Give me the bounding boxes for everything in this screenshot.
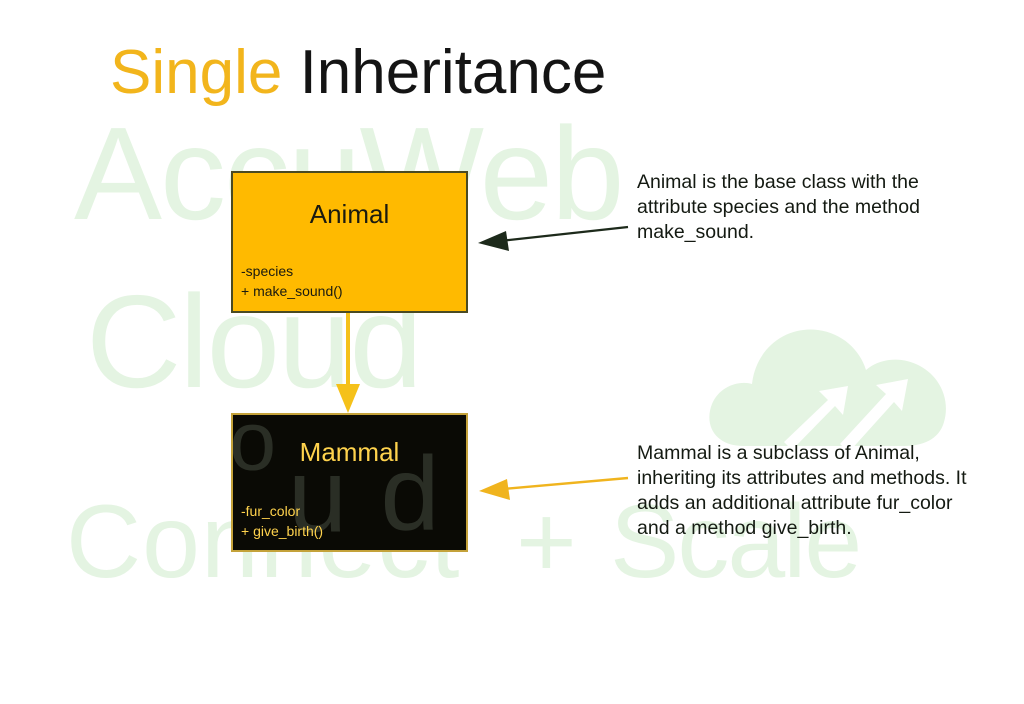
- annotation-mammal: Mammal is a subclass of Animal, inheriti…: [637, 441, 971, 541]
- class-members-animal: -species + make_sound(): [241, 261, 343, 301]
- class-name-animal: Animal: [233, 199, 466, 229]
- uml-class-box-animal[interactable]: Animal -species + make_sound(): [231, 171, 468, 313]
- inheritance-arrow: [336, 313, 360, 413]
- page-title-rest: Inheritance: [282, 38, 606, 107]
- slide-canvas: AccuWeb Cloud Connect + Scale Single Inh…: [0, 0, 1024, 704]
- page-title: Single Inheritance: [110, 36, 606, 110]
- class-method-give-birth: + give_birth(): [241, 521, 323, 541]
- mammal-note-arrow: [479, 478, 628, 500]
- class-attribute-fur-color: -fur_color: [241, 501, 323, 521]
- annotation-animal: Animal is the base class with the attrib…: [637, 170, 967, 245]
- class-name-mammal: Mammal: [233, 437, 466, 467]
- page-title-highlight: Single: [110, 38, 282, 107]
- class-method-make-sound: + make_sound(): [241, 281, 343, 301]
- class-members-mammal: -fur_color + give_birth(): [241, 501, 323, 541]
- animal-note-arrow: [478, 227, 628, 251]
- watermark-tagline-plus: +: [516, 490, 575, 594]
- uml-class-box-mammal[interactable]: o u d Mammal -fur_color + give_birth(): [231, 413, 468, 552]
- class-attribute-species: -species: [241, 261, 343, 281]
